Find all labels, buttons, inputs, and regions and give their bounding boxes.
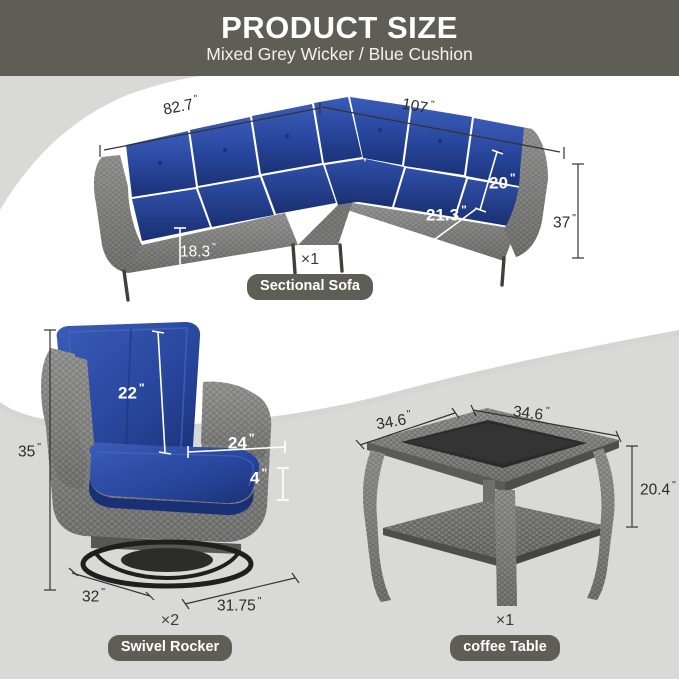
count-swivel-rocker: ×2 — [65, 613, 275, 629]
product-size-infographic: PRODUCT SIZE Mixed Grey Wicker / Blue Cu… — [0, 0, 679, 679]
caption-swivel-rocker: ×2 Swivel Rocker — [65, 613, 275, 661]
page-subtitle: Mixed Grey Wicker / Blue Cushion — [206, 46, 472, 64]
count-sectional-sofa: ×1 — [205, 252, 415, 268]
label-coffee-table: coffee Table — [450, 635, 560, 661]
header-banner: PRODUCT SIZE Mixed Grey Wicker / Blue Cu… — [0, 0, 679, 76]
caption-coffee-table: ×1 coffee Table — [400, 613, 610, 661]
label-sectional-sofa: Sectional Sofa — [247, 274, 373, 300]
page-title: PRODUCT SIZE — [221, 12, 458, 43]
swivel-rocker-image — [35, 320, 305, 590]
count-coffee-table: ×1 — [400, 613, 610, 629]
coffee-table-image — [355, 400, 630, 615]
label-swivel-rocker: Swivel Rocker — [108, 635, 232, 661]
caption-sectional-sofa: ×1 Sectional Sofa — [205, 252, 415, 300]
